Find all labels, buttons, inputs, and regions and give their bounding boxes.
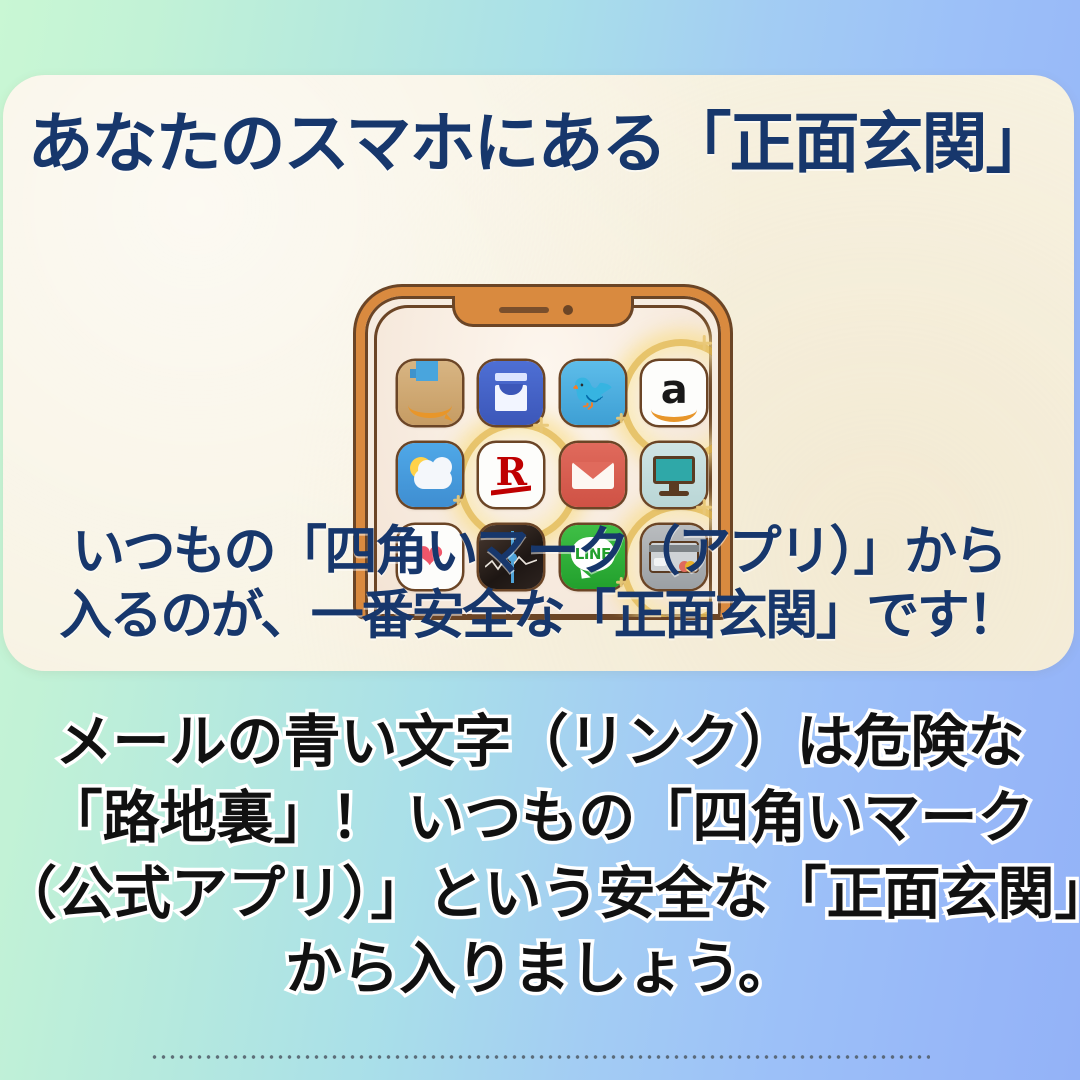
app-icon-weather-app[interactable] [398, 443, 462, 507]
app-cell [561, 443, 625, 507]
info-card: あなたのスマホにある「正面玄関」 🐦aR❤LINE いつもの「四角いマーク（アプ… [3, 75, 1074, 671]
app-cell [398, 443, 462, 507]
app-cell: 🐦 [561, 361, 625, 425]
app-icon-twitter-app[interactable]: 🐦 [561, 361, 625, 425]
caption-line-2: 「路地裏」！ いつもの「四角いマーク [0, 781, 1080, 857]
speaker-icon [499, 307, 549, 313]
caption-text: メールの青い文字（リンク）は危険な 「路地裏」！ いつもの「四角いマーク （公式… [0, 705, 1080, 1008]
app-cell: a [642, 361, 706, 425]
caption-line-4: から入りましょう。 [0, 932, 1080, 1008]
front-camera-icon [563, 305, 573, 315]
app-icon-mail-app[interactable] [561, 443, 625, 507]
app-icon-amazon-app[interactable]: a [642, 361, 706, 425]
app-cell [642, 443, 706, 507]
dotted-divider [150, 1055, 930, 1059]
app-cell [398, 361, 462, 425]
sparkle-icon [533, 417, 549, 433]
caption-line-3: （公式アプリ）」という安全な「正面玄関」 [0, 857, 1080, 933]
app-icon-mailbox-app[interactable] [479, 361, 543, 425]
app-icon-amazon-shopping-box[interactable] [398, 361, 462, 425]
sparkle-icon [696, 499, 712, 515]
sparkle-icon [696, 335, 712, 351]
app-icon-pc-app[interactable] [642, 443, 706, 507]
sparkle-icon [616, 413, 626, 423]
card-subtitle-line-1: いつもの「四角いマーク（アプリ）」から [3, 520, 1074, 585]
sparkle-icon [453, 495, 463, 505]
caption-line-1: メールの青い文字（リンク）は危険な [0, 705, 1080, 781]
app-icon-rakuten-app[interactable]: R [479, 443, 543, 507]
phone-notch [455, 290, 631, 324]
app-cell: R [479, 443, 543, 507]
app-cell [479, 361, 543, 425]
page-title: あなたのスマホにある「正面玄関」 [3, 109, 1074, 178]
card-subtitle-line-2: 入るのが、一番安全な「正面玄関」です！ [3, 584, 1074, 649]
card-subtitle: いつもの「四角いマーク（アプリ）」から 入るのが、一番安全な「正面玄関」です！ [3, 520, 1074, 649]
poster-canvas: あなたのスマホにある「正面玄関」 🐦aR❤LINE いつもの「四角いマーク（アプ… [0, 0, 1080, 1080]
